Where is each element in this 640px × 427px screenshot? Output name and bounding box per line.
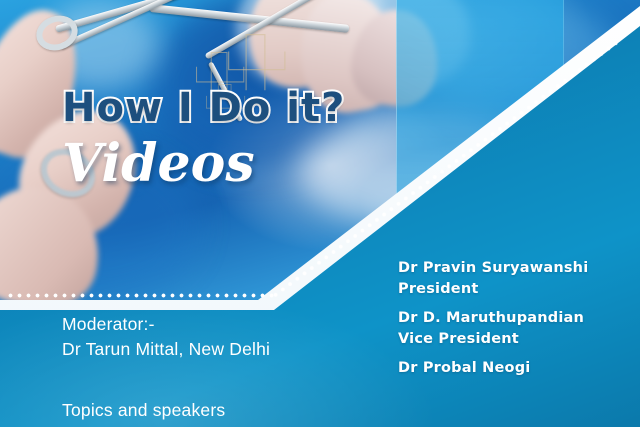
official-name: Dr Pravin Suryawanshi bbox=[398, 258, 628, 279]
official-role bbox=[398, 379, 628, 386]
office-bearers-list: Dr Pravin Suryawanshi President Dr D. Ma… bbox=[398, 258, 628, 395]
moderator-block: Moderator:- Dr Tarun Mittal, New Delhi bbox=[62, 312, 270, 363]
official-role: President bbox=[398, 279, 628, 300]
title-line-primary: How I Do it? bbox=[62, 88, 345, 128]
official-role: Vice President bbox=[398, 329, 628, 350]
topics-heading: Topics and speakers bbox=[62, 400, 225, 421]
poster-root: How I Do it? Videos Moderator:- Dr Tarun… bbox=[0, 0, 640, 427]
official-name: Dr Probal Neogi bbox=[398, 358, 628, 379]
list-item: Dr Pravin Suryawanshi President bbox=[398, 258, 628, 299]
list-item: Dr Probal Neogi bbox=[398, 358, 628, 386]
dotted-divider-horizontal bbox=[6, 293, 274, 298]
title-line-secondary: Videos bbox=[62, 138, 345, 190]
official-name: Dr D. Maruthupandian bbox=[398, 308, 628, 329]
moderator-label: Moderator:- bbox=[62, 312, 270, 337]
list-item: Dr D. Maruthupandian Vice President bbox=[398, 308, 628, 349]
poster-title: How I Do it? Videos bbox=[62, 88, 345, 190]
moderator-name: Dr Tarun Mittal, New Delhi bbox=[62, 337, 270, 362]
